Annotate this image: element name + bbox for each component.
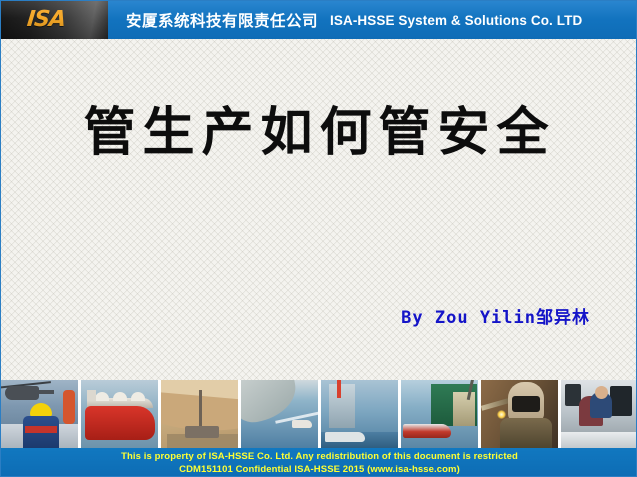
isa-wordmark-icon: ISA bbox=[26, 8, 67, 32]
slide-header: ISA 安厦系统科技有限责任公司 ISA-HSSE System & Solut… bbox=[1, 1, 637, 39]
slide-body-background bbox=[1, 39, 637, 380]
supply-vessel-shape bbox=[403, 424, 451, 438]
photo-desert-drilling-rig bbox=[161, 380, 238, 448]
office-person-head bbox=[595, 386, 608, 399]
company-name-english: ISA-HSSE System & Solutions Co. LTD bbox=[330, 13, 582, 28]
hard-hat-icon bbox=[30, 403, 52, 417]
drilling-mast-icon bbox=[199, 390, 202, 428]
firefighter-jacket-band bbox=[25, 426, 57, 433]
harbour-boat-shape bbox=[325, 432, 365, 442]
lng-tank-3 bbox=[131, 392, 145, 401]
photo-welder-at-work bbox=[481, 380, 558, 448]
platform-derrick-icon bbox=[337, 380, 341, 398]
lng-tank-2 bbox=[113, 392, 127, 401]
rig-base-shape bbox=[185, 426, 219, 438]
lng-tank-1 bbox=[95, 392, 109, 401]
photo-office-workers bbox=[561, 380, 637, 448]
office-monitor-right bbox=[610, 386, 632, 416]
platform-jacket-shape bbox=[329, 384, 355, 428]
isa-logo-badge: ISA bbox=[1, 1, 108, 39]
office-desk-shape bbox=[561, 432, 637, 448]
header-title-bar: 安厦系统科技有限责任公司 ISA-HSSE System & Solutions… bbox=[108, 1, 637, 39]
ship-hull-shape bbox=[85, 406, 155, 440]
platform-module-shape bbox=[453, 392, 475, 426]
slide-footer: This is property of ISA-HSSE Co. Ltd. An… bbox=[1, 448, 637, 477]
photo-offshore-platform-harbour bbox=[321, 380, 398, 448]
photo-supply-vessel-platform bbox=[401, 380, 478, 448]
photo-helicopter-deck-firefighter bbox=[1, 380, 78, 448]
company-name-chinese: 安厦系统科技有限责任公司 bbox=[126, 9, 318, 31]
footer-copyright-line: This is property of ISA-HSSE Co. Ltd. An… bbox=[121, 450, 518, 463]
photo-strip bbox=[1, 380, 637, 448]
photo-aerial-coastal-offshore bbox=[241, 380, 318, 448]
welding-visor-shape bbox=[512, 396, 540, 412]
helicopter-tail-icon bbox=[34, 390, 54, 394]
ship-bridge-shape bbox=[87, 390, 96, 401]
photo-red-lng-carrier-ship bbox=[81, 380, 158, 448]
author-byline: By Zou Yilin邹异林 bbox=[401, 303, 590, 328]
presentation-slide: ISA 安厦系统科技有限责任公司 ISA-HSSE System & Solut… bbox=[0, 0, 637, 477]
deck-crew-figure bbox=[63, 390, 75, 424]
welder-torso-shape bbox=[500, 418, 552, 448]
footer-confidential-line: CDM151101 Confidential ISA-HSSE 2015 (ww… bbox=[179, 463, 460, 476]
steel-beam-shape bbox=[481, 398, 509, 411]
slide-title: 管生产如何管安全 bbox=[1, 101, 637, 165]
vessel-shape bbox=[292, 420, 312, 428]
